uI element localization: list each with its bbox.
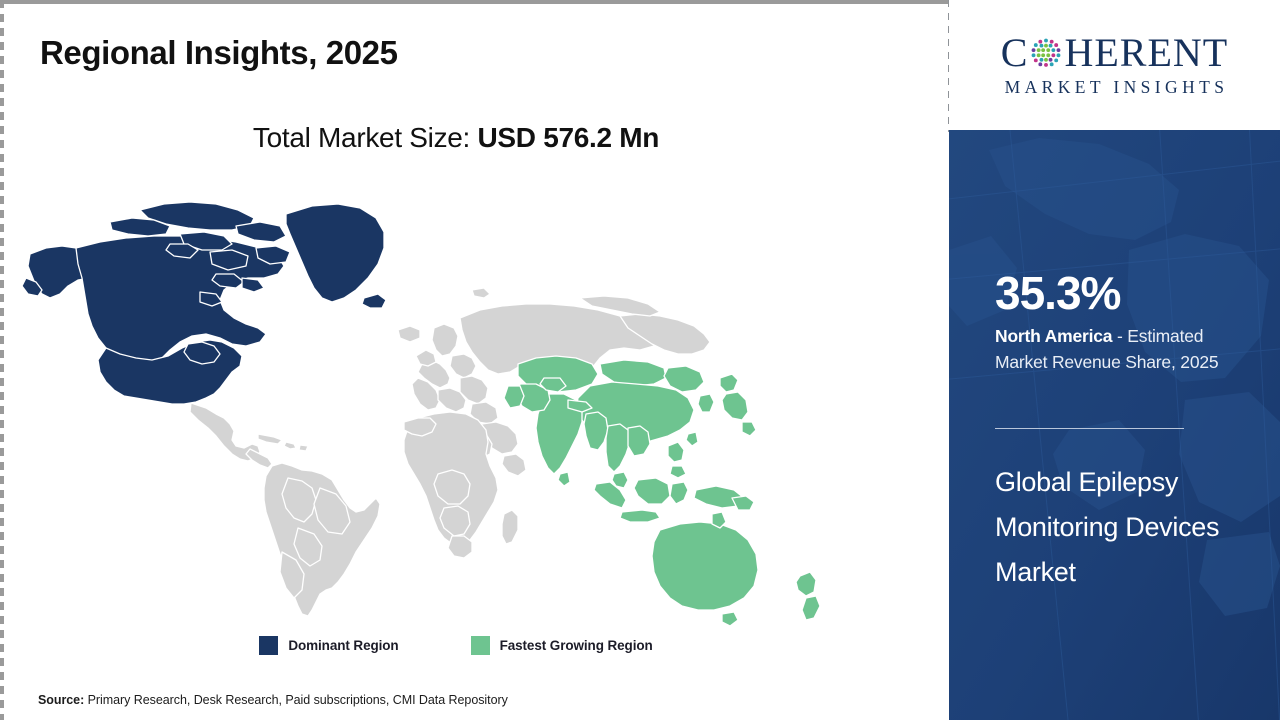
market-size-value: USD 576.2 Mn: [478, 122, 660, 153]
logo-wordmark: C: [1001, 33, 1228, 73]
world-map: [20, 178, 880, 628]
market-report-title: Global Epilepsy Monitoring Devices Marke…: [995, 460, 1245, 594]
map-legend: Dominant Region Fastest Growing Region: [0, 636, 912, 655]
globe-dots-icon: [1029, 36, 1063, 70]
left-content-pane: Regional Insights, 2025 Total Market Siz…: [0, 0, 948, 720]
logo-letter-c: C: [1001, 33, 1029, 73]
legend-label-dominant: Dominant Region: [288, 638, 398, 653]
world-map-svg: [20, 178, 880, 628]
market-share-region: North America: [995, 326, 1112, 346]
logo-word-herent: HERENT: [1064, 33, 1228, 73]
legend-swatch-fastest-growing: [471, 636, 490, 655]
right-panel: C: [949, 0, 1280, 720]
source-text: Primary Research, Desk Research, Paid su…: [84, 693, 508, 707]
infographic-page: Regional Insights, 2025 Total Market Siz…: [0, 0, 1280, 720]
legend-item-fastest-growing: Fastest Growing Region: [471, 636, 653, 655]
map-region-fastest-growing: [504, 356, 820, 626]
stats-panel-content: 35.3% North America - Estimated Market R…: [949, 130, 1280, 720]
page-title: Regional Insights, 2025: [40, 34, 398, 72]
market-size-label: Total Market Size:: [253, 122, 478, 153]
logo-tagline: MARKET INSIGHTS: [1001, 77, 1229, 98]
source-label: Source:: [38, 693, 84, 707]
panel-divider-rule: [995, 428, 1184, 429]
brand-logo: C: [949, 0, 1280, 130]
market-share-description: North America - Estimated Market Revenue…: [995, 323, 1243, 376]
market-share-value: 35.3%: [995, 270, 1120, 316]
total-market-size: Total Market Size: USD 576.2 Mn: [0, 122, 912, 154]
map-region-dominant: [22, 202, 386, 404]
stats-panel: 35.3% North America - Estimated Market R…: [949, 130, 1280, 720]
legend-item-dominant: Dominant Region: [259, 636, 398, 655]
source-note: Source: Primary Research, Desk Research,…: [38, 693, 508, 707]
legend-swatch-dominant: [259, 636, 278, 655]
legend-label-fastest-growing: Fastest Growing Region: [500, 638, 653, 653]
